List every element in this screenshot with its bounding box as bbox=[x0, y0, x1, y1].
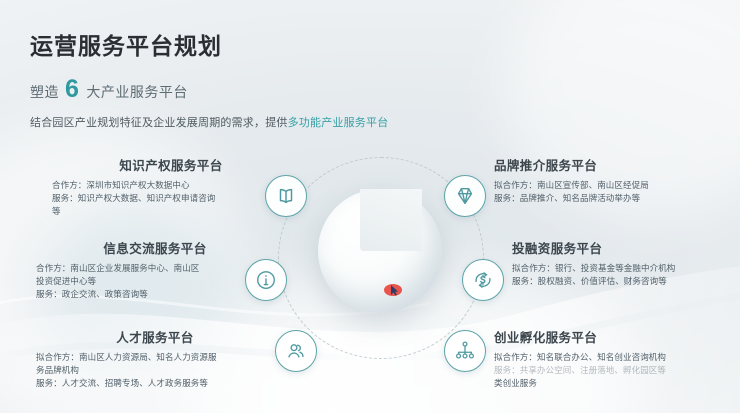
platform-title: 创业孵化服务平台 bbox=[494, 327, 736, 346]
platform-title: 信息交流服务平台 bbox=[36, 238, 274, 257]
description-plain: 结合园区产业规划特征及企业发展周期的需求，提供 bbox=[30, 117, 288, 129]
platform-line: 服务：股权融资、价值评估、财务咨询等 bbox=[512, 275, 740, 288]
platform-line: 投资促进中心等 bbox=[36, 275, 274, 288]
subtitle-count: 6 bbox=[65, 77, 79, 102]
platform-card-talent[interactable]: 人才服务平台 拟合作方：南山区人力资源局、知名人力资源服 务品牌机构 服务：人才… bbox=[36, 327, 274, 391]
platform-line: 合作方：深圳市知识产权大数据中心 bbox=[52, 179, 290, 192]
platform-title: 知识产权服务平台 bbox=[52, 155, 290, 174]
mouse-cursor-icon bbox=[384, 283, 402, 297]
platform-title: 品牌推介服务平台 bbox=[494, 155, 734, 174]
platform-line: 服务：知识产权大数据、知识产权申请咨询 bbox=[52, 192, 290, 205]
badge-brand[interactable] bbox=[444, 175, 486, 217]
subtitle-prefix: 塑造 bbox=[30, 82, 59, 102]
platform-line: 服务：人才交流、招聘专场、人才政务服务等 bbox=[36, 377, 274, 390]
platform-card-brand[interactable]: 品牌推介服务平台 拟合作方：南山区宣传部、南山区经促局 服务：品牌推介、知名品牌… bbox=[494, 155, 734, 205]
platform-line: 类创业服务 bbox=[494, 377, 736, 390]
platform-card-info[interactable]: 信息交流服务平台 合作方：南山区企业发展服务中心、南山区 投资促进中心等 服务：… bbox=[36, 238, 274, 302]
diamond-icon bbox=[454, 185, 476, 207]
badge-incubation[interactable] bbox=[444, 330, 486, 372]
platform-line: 服务：品牌推介、知名品牌活动举办等 bbox=[494, 192, 734, 205]
badge-finance[interactable] bbox=[462, 259, 504, 301]
platform-line: 拟合作方：南山区人力资源局、知名人力资源服 bbox=[36, 351, 274, 364]
subtitle: 塑造 6 大产业服务平台 bbox=[30, 77, 188, 102]
dollar-refresh-icon bbox=[472, 269, 494, 291]
platform-line: 合作方：南山区企业发展服务中心、南山区 bbox=[36, 262, 274, 275]
sphere-wedge bbox=[360, 189, 422, 251]
subtitle-suffix: 大产业服务平台 bbox=[86, 82, 188, 102]
description: 结合园区产业规划特征及企业发展周期的需求，提供多功能产业服务平台 bbox=[30, 114, 388, 130]
slide-canvas: 运营服务平台规划 塑造 6 大产业服务平台 结合园区产业规划特征及企业发展周期的… bbox=[0, 0, 740, 413]
platform-card-ip[interactable]: 知识产权服务平台 合作方：深圳市知识产权大数据中心 服务：知识产权大数据、知识产… bbox=[52, 155, 290, 219]
page-title: 运营服务平台规划 bbox=[30, 27, 222, 61]
center-graphic bbox=[300, 175, 460, 335]
platform-title: 投融资服务平台 bbox=[512, 238, 740, 257]
platform-line: 拟合作方：银行、投资基金等金融中介机构 bbox=[512, 262, 740, 275]
platform-title: 人才服务平台 bbox=[36, 327, 274, 346]
platform-line: 拟合作方：南山区宣传部、南山区经促局 bbox=[494, 179, 734, 192]
platform-line: 等 bbox=[52, 205, 290, 218]
platform-line: 务品牌机构 bbox=[36, 364, 274, 377]
platform-line: 服务：共享办公空间、注册落地、孵化园区等 bbox=[494, 364, 736, 377]
platform-line: 拟合作方：知名联合办公、知名创业咨询机构 bbox=[494, 351, 736, 364]
two-people-icon bbox=[285, 340, 307, 362]
platform-line: 服务：政企交流、政策咨询等 bbox=[36, 288, 274, 301]
platform-card-finance[interactable]: 投融资服务平台 拟合作方：银行、投资基金等金融中介机构 服务：股权融资、价值评估… bbox=[512, 238, 740, 288]
description-highlight: 多功能产业服务平台 bbox=[288, 117, 389, 129]
platform-card-incubation[interactable]: 创业孵化服务平台 拟合作方：知名联合办公、知名创业咨询机构 服务：共享办公空间、… bbox=[494, 327, 736, 391]
org-chart-icon bbox=[454, 340, 476, 362]
badge-talent[interactable] bbox=[275, 330, 317, 372]
